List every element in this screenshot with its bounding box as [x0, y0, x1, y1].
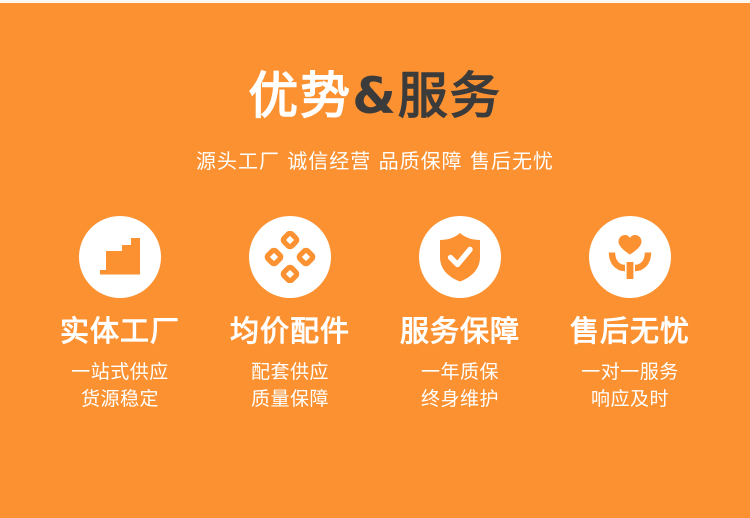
feature-line-2: 终身维护 — [386, 386, 534, 414]
icon-circle-aftersales — [589, 216, 671, 298]
promo-banner: 优势&服务 源头工厂 诚信经营 品质保障 售后无忧 — [0, 0, 750, 518]
factory-icon — [95, 232, 145, 282]
page-title: 优势&服务 — [0, 71, 750, 121]
feature-item-service: 服务保障 一年质保 终身维护 — [386, 216, 534, 414]
feature-line-1: 一站式供应 — [46, 359, 194, 387]
feature-list: 实体工厂 一站式供应 货源稳定 均价配件 配套供应 — [0, 174, 750, 414]
feature-item-parts: 均价配件 配套供应 质量保障 — [216, 216, 364, 414]
icon-circle-parts — [249, 216, 331, 298]
feature-description: 一年质保 终身维护 — [386, 348, 534, 414]
icon-circle-factory — [79, 216, 161, 298]
title-dark-part: &服务 — [352, 67, 502, 125]
banner-header: 优势&服务 源头工厂 诚信经营 品质保障 售后无忧 — [0, 3, 750, 174]
shield-check-icon — [436, 231, 484, 283]
feature-line-2: 质量保障 — [216, 386, 364, 414]
feature-item-factory: 实体工厂 一站式供应 货源稳定 — [46, 216, 194, 414]
feature-line-1: 一年质保 — [386, 359, 534, 387]
feature-description: 配套供应 质量保障 — [216, 348, 364, 414]
feature-line-2: 响应及时 — [556, 386, 704, 414]
feature-title: 售后无忧 — [556, 298, 704, 348]
feature-item-aftersales: 售后无忧 一对一服务 响应及时 — [556, 216, 704, 414]
four-diamonds-icon — [264, 231, 316, 283]
banner-subtitle: 源头工厂 诚信经营 品质保障 售后无忧 — [0, 121, 750, 174]
feature-title: 均价配件 — [216, 298, 364, 348]
hands-heart-icon — [604, 232, 656, 282]
feature-line-1: 一对一服务 — [556, 359, 704, 387]
title-white-part: 优势 — [248, 67, 352, 125]
feature-description: 一站式供应 货源稳定 — [46, 348, 194, 414]
icon-circle-service — [419, 216, 501, 298]
feature-description: 一对一服务 响应及时 — [556, 348, 704, 414]
feature-title: 实体工厂 — [46, 298, 194, 348]
feature-title: 服务保障 — [386, 298, 534, 348]
top-white-strip — [0, 0, 750, 3]
feature-line-1: 配套供应 — [216, 359, 364, 387]
feature-line-2: 货源稳定 — [46, 386, 194, 414]
